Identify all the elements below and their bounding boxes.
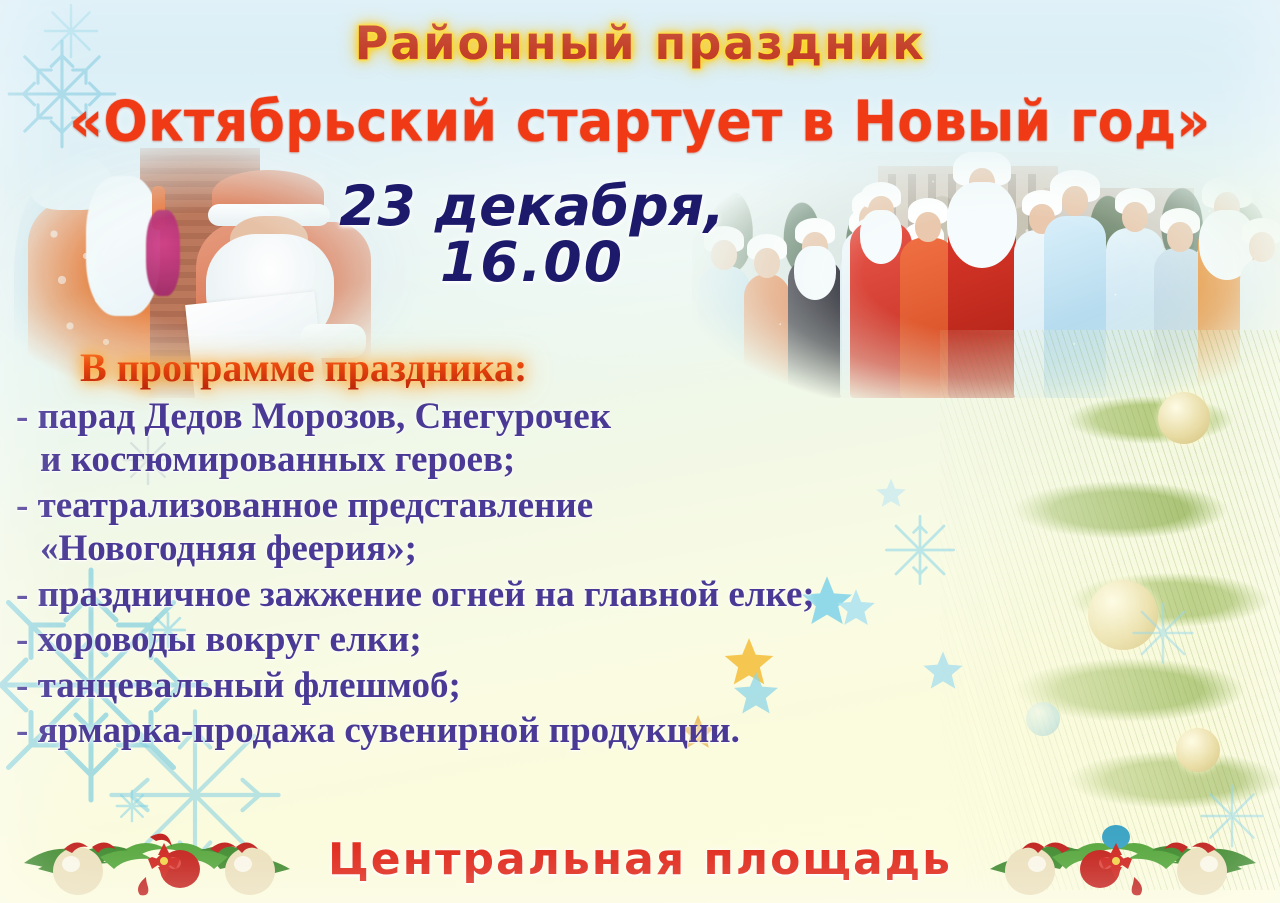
- list-item: - хороводы вокруг елки;: [16, 618, 1206, 661]
- event-datetime: 23 декабря, 16.00: [322, 178, 742, 290]
- event-date: 23 декабря,: [339, 174, 725, 238]
- list-item-line: «Новогодняя феерия»;: [16, 527, 1206, 570]
- list-item: - театрализованное представление «Нового…: [16, 484, 1206, 571]
- list-item-line: - хороводы вокруг елки;: [16, 618, 1206, 661]
- list-item-line: - ярмарка-продажа сувенирной продукции.: [16, 709, 1206, 752]
- program-heading: В программе праздника:: [80, 344, 527, 391]
- venue-text: Центральная площадь: [0, 834, 1280, 885]
- list-item: - танцевальный флешмоб;: [16, 664, 1206, 707]
- ded-moroz-parade-photo: [692, 152, 1280, 398]
- list-item-line: - праздничное зажжение огней на главной …: [16, 573, 1206, 616]
- list-item: - парад Дедов Морозов, Снегурочек и кост…: [16, 395, 1206, 482]
- list-item-line: - театрализованное представление: [16, 484, 1206, 527]
- list-item: - праздничное зажжение огней на главной …: [16, 573, 1206, 616]
- poster-canvas: Районный праздник «Октябрьский стартует …: [0, 0, 1280, 903]
- poster-subtitle: «Октябрьский стартует в Новый год»: [0, 90, 1280, 155]
- poster-title: Районный праздник: [0, 16, 1280, 70]
- list-item-line: - парад Дедов Морозов, Снегурочек: [16, 395, 1206, 438]
- snowflake-icon: [112, 786, 152, 826]
- event-time: 16.00: [322, 234, 742, 290]
- list-item-line: и костюмированных героев;: [16, 438, 1206, 481]
- program-list: - парад Дедов Морозов, Снегурочек и кост…: [16, 395, 1206, 755]
- list-item: - ярмарка-продажа сувенирной продукции.: [16, 709, 1206, 752]
- list-item-line: - танцевальный флешмоб;: [16, 664, 1206, 707]
